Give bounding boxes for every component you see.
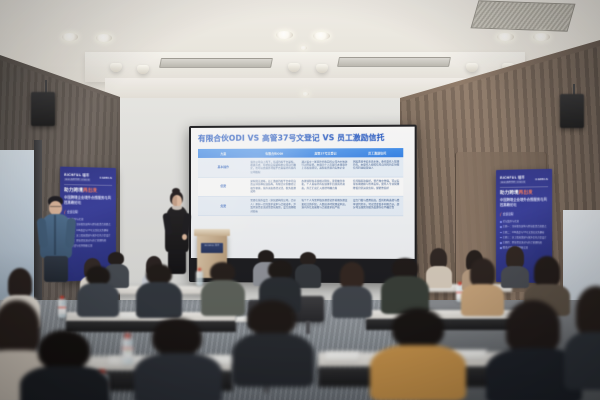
table-header-cell: 高管37号文登记	[300, 148, 352, 157]
table-row: 优势 架构简洁清晰，员工激励持股平台中可自由安排各种权益结构，有限合伙份额转让操…	[198, 177, 403, 197]
hair	[470, 258, 495, 286]
table-cell: 办理流程和手续相对简化，无需额外审批，个人直接持有权益便于后续减持退出，外汇汇出…	[300, 177, 352, 197]
collar	[172, 206, 182, 210]
audio-speaker-left	[31, 92, 55, 126]
table-cell: 将股票授予给市场主体，委托受托人管理持有，由受托人按照信托合同的约定分配信托利益…	[351, 157, 403, 176]
hair	[340, 262, 364, 288]
water-bottle	[196, 268, 203, 286]
banner-headline-accent: 再出发	[83, 188, 97, 193]
bullet-icon	[500, 242, 502, 244]
bullet-icon	[500, 221, 502, 223]
banner-logo-row: RICHFUL 瑞丰 NEEQ股份代码：874528 CAMCA	[64, 172, 112, 183]
torso	[201, 280, 245, 316]
banner-logo-richful: RICHFUL 瑞丰 NEEQ股份代码：874528	[64, 172, 90, 182]
banner-divider	[500, 187, 548, 188]
banner-headline-prefix: 助力跨境	[500, 191, 519, 196]
banner-logo-sub: NEEQ股份代码：874528	[64, 178, 90, 182]
hair	[0, 300, 40, 354]
list-item: 主题二：ODI备案与37号文登记实务解析	[500, 231, 548, 234]
downlight	[62, 33, 78, 41]
bullet-icon	[500, 232, 502, 234]
list-item: 主题四：跨境资金流动与外汇管理新规	[500, 241, 548, 244]
audio-speaker-right	[560, 94, 584, 128]
slide-comparison-table: 方案 有限合伙ODI 高管37号文登记 员工激励信托 基本操作 境外公司自上而下…	[198, 148, 403, 217]
torso	[136, 282, 182, 318]
list-item-label: 主题二：ODI备案与37号文登记实务解析	[503, 231, 545, 234]
bullet-icon	[500, 247, 502, 249]
hand	[182, 234, 187, 240]
list-item-label: 主题三：员工股权激励与境外信托方案设计	[503, 236, 547, 239]
banner-section-label: 会议议程	[67, 210, 78, 214]
bottle-body	[196, 271, 203, 286]
banner-logo-text: RICHFUL 瑞丰	[500, 175, 525, 179]
table-cell: 每个个人均需单独办理登记并按期办理变更和注销手续，人数较多时管理成本高，境内外信…	[300, 196, 352, 216]
banner-logo-camca: CAMCA	[535, 177, 548, 181]
torso	[370, 345, 466, 400]
table-cell: 境外公司自上而下，形成持股平台架构，搭建方式、形式和交易架构由公司自行确定，也可…	[249, 158, 300, 177]
torso	[564, 332, 600, 390]
torso	[134, 353, 222, 400]
banner-section: / 会议议程	[64, 210, 112, 215]
list-item: 主题三：员工股权激励与境外信托方案设计	[500, 236, 548, 239]
banner-logo-sub: NEEQ股份代码：874528	[500, 180, 526, 184]
list-item: 论坛致辞与欢迎	[500, 220, 548, 223]
podium-name-plate: RICHFUL 瑞丰	[201, 243, 223, 253]
downlight	[497, 33, 514, 41]
table-skirt	[66, 321, 236, 332]
slash-icon: /	[500, 212, 501, 217]
downlight	[302, 92, 309, 96]
hair-bun	[172, 188, 180, 194]
ceiling-vent-left	[159, 58, 273, 68]
shirt-placket	[54, 215, 56, 255]
table-cell: 架构简洁清晰，员工激励持股平台中可自由安排各种权益结构，有限合伙份额转让操作便捷…	[249, 177, 300, 197]
downlight	[313, 32, 330, 40]
hair	[210, 262, 235, 282]
torso	[426, 266, 452, 288]
banner-section-label: 会议议程	[503, 212, 514, 216]
label-bar	[58, 307, 66, 308]
downlight	[300, 46, 307, 50]
list-item-label: 主题四：跨境资金流动与外汇管理新规	[503, 241, 542, 244]
banner-subheadline: 中国跨境企业境外合规服务与风控高峰论坛	[64, 196, 112, 206]
ceiling-vent-right	[337, 57, 451, 67]
paper-sheet	[324, 352, 359, 361]
banner-headline: 助力跨境再出发	[64, 188, 112, 195]
bottle-label	[58, 306, 66, 314]
hair	[430, 248, 447, 268]
hair	[8, 268, 32, 298]
legs	[44, 256, 68, 282]
banner-subheadline: 中国跨境企业境外合规服务与风控高峰论坛	[500, 198, 548, 208]
hair	[248, 300, 296, 336]
chair-post	[306, 321, 310, 334]
table-header-cell: 方案	[198, 149, 249, 158]
banner-logo-camca: CAMCA	[100, 175, 112, 179]
conference-room-photo: 有限合伙ODI VS 高管37号文登记 VS 员工激励信托 方案 有限合伙ODI…	[0, 0, 600, 400]
torso	[461, 284, 504, 316]
torso	[232, 333, 314, 387]
hair	[152, 318, 202, 356]
water-bottle	[58, 296, 66, 318]
ceiling-air-grille-right	[470, 0, 575, 31]
banner-logo-text: RICHFUL 瑞丰	[64, 173, 89, 178]
table-cell: 信托隔离效果好，资产独立性强，可以实现长期激励与传承安排，受托人专业管理降低日常…	[351, 177, 403, 197]
bullet-icon	[500, 237, 502, 239]
torso	[501, 266, 529, 288]
banner-section: / 会议议程	[500, 212, 548, 217]
table-row: 劣势 需要在境外设立（多层架构的公司，合伙人）承担一定的维护成本与合规成本，涉及…	[198, 196, 403, 216]
downlight	[276, 31, 293, 39]
torso	[20, 366, 110, 400]
slide-title: 有限合伙ODI VS 高管37号文登记 VS 员工激励信托	[198, 132, 407, 144]
banner-logo-richful: RICHFUL 瑞丰 NEEQ股份代码：874528	[500, 174, 526, 184]
banner-divider	[64, 184, 112, 185]
table-header-cell: 员工激励信托	[351, 148, 403, 158]
hair	[506, 300, 560, 352]
list-item: 主题一：全球税务架构与跨境投资合规要点	[500, 225, 548, 228]
table-cell: 通过设立一家境外特殊目的公司为主体进行对外投资，由境内个人在银行办理境外上市权益…	[300, 158, 352, 177]
bullet-icon	[500, 226, 502, 228]
torso	[332, 286, 372, 318]
hair	[534, 256, 560, 286]
banner-headline-accent: 再出发	[519, 190, 533, 195]
hair	[392, 258, 418, 278]
podium-plate-line1: RICHFUL 瑞丰	[201, 243, 223, 247]
water-bottle	[122, 334, 133, 364]
bottle-label	[122, 347, 133, 359]
banner-agenda-list: 论坛致辞与欢迎 主题一：全球税务架构与跨境投资合规要点 主题二：ODI备案与37…	[500, 220, 548, 250]
table-header-cell: 有限合伙ODI	[249, 149, 300, 158]
slash-icon: /	[64, 210, 65, 215]
list-item-label: 主题一：全球税务架构与跨境投资合规要点	[503, 225, 547, 228]
hair	[38, 330, 90, 370]
table-cell: 需要在境外设立（多层架构的公司，合伙人）承担一定的维护成本与合规成本，涉及跨境资…	[249, 196, 300, 216]
hair	[392, 308, 444, 348]
face-shadow	[172, 196, 177, 206]
row-label: 劣势	[198, 196, 249, 215]
row-label: 基本操作	[198, 158, 249, 177]
banner-logo-row: RICHFUL 瑞丰 NEEQ股份代码：874528 CAMCA	[500, 174, 548, 184]
hair	[146, 264, 172, 284]
downlight	[533, 33, 550, 41]
downlight	[96, 34, 112, 42]
banner-headline-prefix: 助力跨境	[64, 188, 83, 193]
row-label: 优势	[198, 177, 249, 197]
podium-top	[194, 229, 230, 236]
banner-headline: 助力跨境再出发	[500, 190, 548, 197]
table-row: 基本操作 境外公司自上而下，形成持股平台架构，搭建方式、形式和交易架构由公司自行…	[198, 157, 403, 177]
hair	[506, 246, 524, 268]
table-cell: 设立门槛与费用较高，受托机构选择与费率谈判复杂，可灵活度低于有限合伙，部分司法辖…	[351, 196, 403, 216]
list-item-label: 论坛致辞与欢迎	[503, 220, 519, 223]
torso	[77, 283, 119, 317]
label-dot	[127, 350, 129, 352]
glasses-icon	[50, 206, 61, 209]
